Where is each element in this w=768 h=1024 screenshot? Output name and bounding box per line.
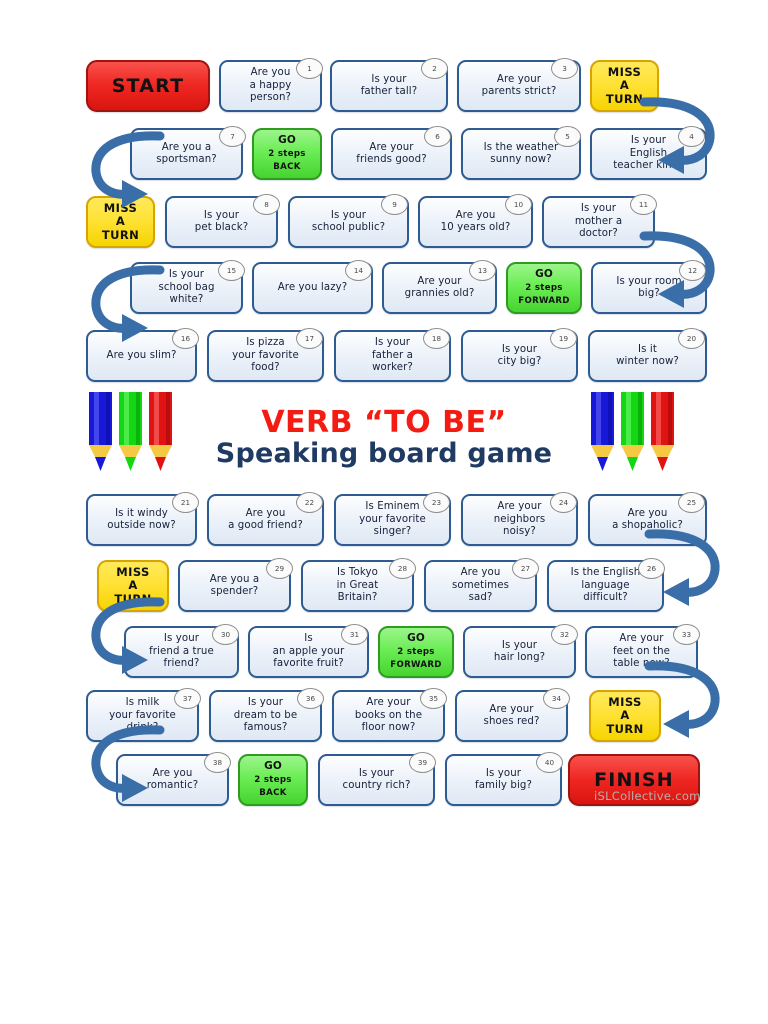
- cell-text: Are yourparents strict?: [482, 74, 557, 99]
- cell-number-badge: 2: [421, 58, 448, 79]
- go-2-steps-back-cell[interactable]: GO2 stepsBACK: [252, 128, 322, 180]
- cell-text: Is Tokyoin GreatBritain?: [337, 567, 379, 604]
- arrow-row9-to-row10: [88, 724, 168, 806]
- go-2-steps-forward-cell[interactable]: GO2 stepsFORWARD: [378, 626, 454, 678]
- cell-number-badge: 15: [218, 260, 245, 281]
- cell-number-badge: 10: [505, 194, 532, 215]
- cell-number-badge: 30: [212, 624, 239, 645]
- cell-number-badge: 24: [550, 492, 577, 513]
- cell-text: Are yousometimessad?: [452, 567, 509, 604]
- cell-text: Are you slim?: [107, 350, 177, 362]
- cell-text: Is yourcountry rich?: [343, 768, 411, 793]
- cell-number-badge: 33: [673, 624, 700, 645]
- arrow-row8-to-row9: [645, 660, 725, 742]
- cell-text: MISSATURN: [606, 696, 643, 737]
- cell-number-badge: 11: [630, 194, 657, 215]
- cell-number-badge: 34: [543, 688, 570, 709]
- worksheet-title: VERB “TO BE” Speaking board game: [0, 392, 768, 482]
- arrow-row7-to-row8: [88, 596, 168, 678]
- cell-text: Is it windyoutside now?: [107, 508, 175, 533]
- cell-number-badge: 18: [423, 328, 450, 349]
- cell-number-badge: 23: [423, 492, 450, 513]
- cell-text: Are yourneighborsnoisy?: [494, 501, 546, 538]
- cell-number-badge: 40: [536, 752, 563, 773]
- cell-text: Are yourfriends good?: [356, 142, 426, 167]
- cell-number-badge: 6: [424, 126, 451, 147]
- cell-text: Are yourbooks on thefloor now?: [355, 697, 422, 734]
- cell-number-badge: 20: [678, 328, 705, 349]
- title-line-1: VERB “TO BE”: [216, 406, 552, 439]
- cell-number-badge: 35: [420, 688, 447, 709]
- cell-number-badge: 31: [341, 624, 368, 645]
- cell-text: Is yourcity big?: [498, 344, 542, 369]
- arrow-row4-to-row5: [88, 264, 168, 346]
- cell-number-badge: 13: [469, 260, 496, 281]
- board-game-worksheet: STARTAre youa happyperson?1Is yourfather…: [0, 0, 768, 1024]
- cell-number-badge: 21: [172, 492, 199, 513]
- cell-text: Is yourschool public?: [312, 210, 385, 235]
- start-cell[interactable]: START: [86, 60, 210, 112]
- cell-text: Are you10 years old?: [441, 210, 511, 235]
- cell-text: Is yourfamily big?: [475, 768, 532, 793]
- cell-number-badge: 8: [253, 194, 280, 215]
- cell-text: Is Eminemyour favoritesinger?: [359, 501, 426, 538]
- cell-text: Are youa good friend?: [228, 508, 303, 533]
- cell-text: Are yourshoes red?: [484, 704, 540, 729]
- cell-number-badge: 12: [679, 260, 706, 281]
- cell-text: GO2 stepsFORWARD: [390, 632, 441, 672]
- cell-number-badge: 4: [678, 126, 705, 147]
- go-2-steps-forward-cell[interactable]: GO2 stepsFORWARD: [506, 262, 582, 314]
- title-line-2: Speaking board game: [216, 439, 552, 469]
- cell-number-badge: 14: [345, 260, 372, 281]
- site-watermark: iSLCollective.com: [594, 789, 701, 803]
- cell-text: Is the weathersunny now?: [484, 142, 559, 167]
- cell-text: Is itwinter now?: [616, 344, 679, 369]
- cell-text: MISSATURN: [606, 66, 643, 107]
- cell-text: Is yourfather tall?: [361, 74, 417, 99]
- cell-number-badge: 16: [172, 328, 199, 349]
- cell-number-badge: 7: [219, 126, 246, 147]
- cell-number-badge: 26: [638, 558, 665, 579]
- cell-text: GO2 stepsBACK: [254, 760, 291, 800]
- cell-text: Isan apple yourfavorite fruit?: [273, 633, 345, 670]
- cell-number-badge: 9: [381, 194, 408, 215]
- cell-text: FINISH: [594, 770, 674, 790]
- cell-text: Are you aspender?: [210, 574, 260, 599]
- cell-number-badge: 27: [512, 558, 539, 579]
- cell-text: Is yourmother adoctor?: [575, 203, 622, 240]
- cell-number-badge: 29: [266, 558, 293, 579]
- arrow-row2-to-row3: [88, 130, 168, 212]
- cell-number-badge: 5: [554, 126, 581, 147]
- cell-text: Is the Englishlanguagedifficult?: [571, 567, 641, 604]
- cell-number-badge: 36: [297, 688, 324, 709]
- cell-text: Is yourhair long?: [494, 640, 545, 665]
- cell-number-badge: 37: [174, 688, 201, 709]
- cell-text: GO2 stepsBACK: [268, 134, 305, 174]
- cell-number-badge: 22: [296, 492, 323, 513]
- cell-number-badge: 25: [678, 492, 705, 513]
- cell-text: Are yourgrannies old?: [405, 276, 475, 301]
- cell-number-badge: 17: [296, 328, 323, 349]
- cell-text: Are you lazy?: [278, 282, 348, 294]
- cell-text: Is yourfather aworker?: [372, 337, 413, 374]
- cell-number-badge: 1: [296, 58, 323, 79]
- go-2-steps-back-cell[interactable]: GO2 stepsBACK: [238, 754, 308, 806]
- cell-text: GO2 stepsFORWARD: [518, 268, 569, 308]
- cell-text: START: [112, 76, 185, 96]
- cell-text: Is yourdream to befamous?: [234, 697, 297, 734]
- cell-number-badge: 19: [550, 328, 577, 349]
- cell-number-badge: 32: [551, 624, 578, 645]
- cell-text: Is pizzayour favoritefood?: [232, 337, 299, 374]
- cell-number-badge: 38: [204, 752, 231, 773]
- cell-number-badge: 39: [409, 752, 436, 773]
- cell-number-badge: 3: [551, 58, 578, 79]
- cell-number-badge: 28: [389, 558, 416, 579]
- cell-text: Is yourpet black?: [195, 210, 248, 235]
- cell-text: Are youa happyperson?: [250, 67, 292, 104]
